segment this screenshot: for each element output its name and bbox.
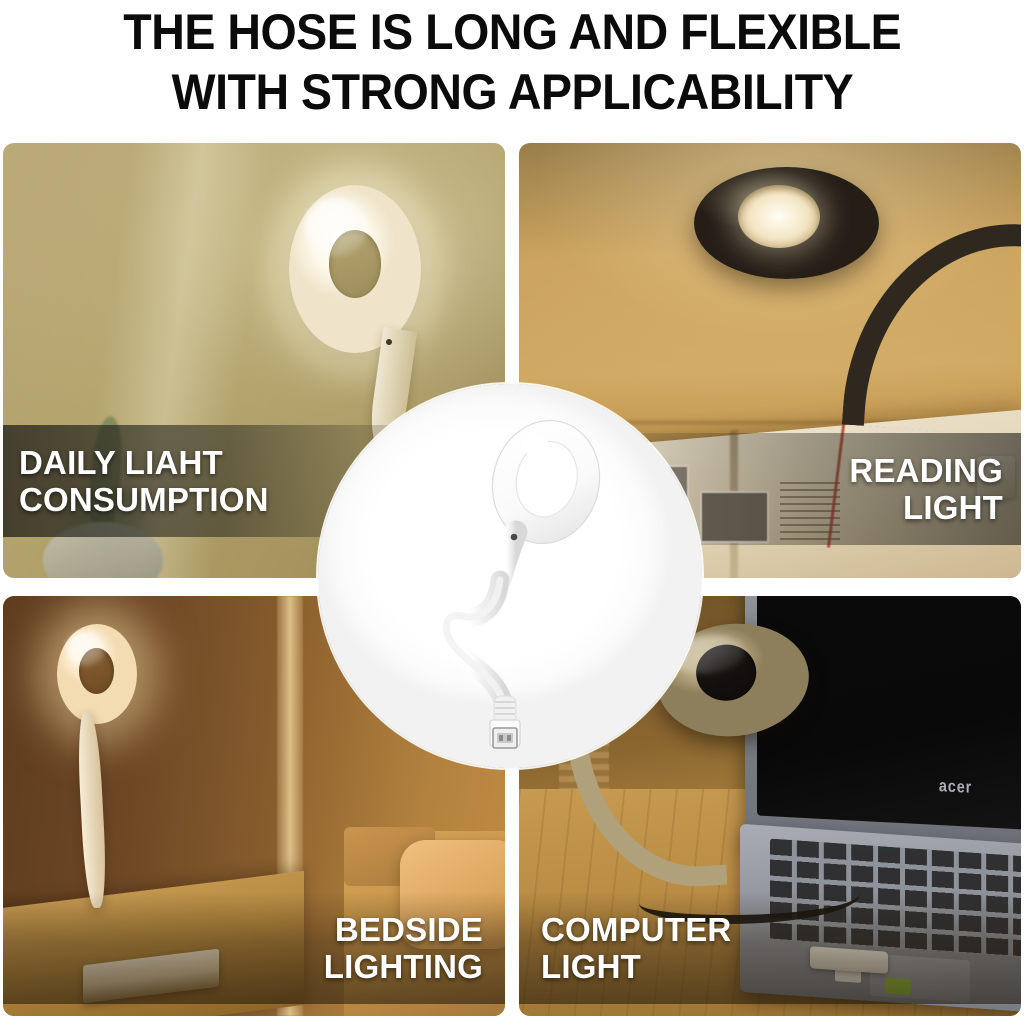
ring-lamp-head [57, 624, 137, 724]
caption-line-1: BEDSIDE [335, 911, 483, 948]
ring-lamp-head [289, 185, 421, 353]
hero-power-button [511, 534, 518, 541]
dark-ring-lamp-head [694, 167, 879, 279]
power-button-dot [386, 339, 392, 345]
acer-logo: acer [939, 776, 972, 798]
hero-usb-plug [490, 720, 520, 748]
ring-inner-hole-lit [738, 185, 819, 248]
headline-line-1: THE HOSE IS LONG AND FLEXIBLE [123, 2, 901, 62]
ring-highlight [305, 198, 368, 255]
hero-product-illustration [318, 384, 702, 768]
ring-highlight [67, 632, 105, 666]
caption-line-2: LIGHT [903, 489, 1003, 526]
product-infographic: THE HOSE IS LONG AND FLEXIBLE WITH STRON… [0, 0, 1024, 1024]
headline-line-2: WITH STRONG APPLICABILITY [171, 62, 853, 122]
headline: THE HOSE IS LONG AND FLEXIBLE WITH STRON… [0, 0, 1024, 140]
caption-line-1: COMPUTER [541, 911, 731, 948]
hero-hose-highlight [446, 580, 504, 704]
caption-computer-light: COMPUTER LIGHT [519, 892, 1021, 1004]
caption-line-2: LIGHTING [324, 948, 483, 985]
lamp-hose [76, 712, 108, 909]
hero-ring-head [480, 409, 613, 555]
caption-line-2: LIGHT [541, 948, 641, 985]
caption-bedside-lighting: BEDSIDE LIGHTING [3, 892, 505, 1004]
hero-product-circle [318, 384, 702, 768]
hero-usb-strain-relief [494, 696, 516, 722]
caption-line-1: READING [849, 452, 1003, 489]
